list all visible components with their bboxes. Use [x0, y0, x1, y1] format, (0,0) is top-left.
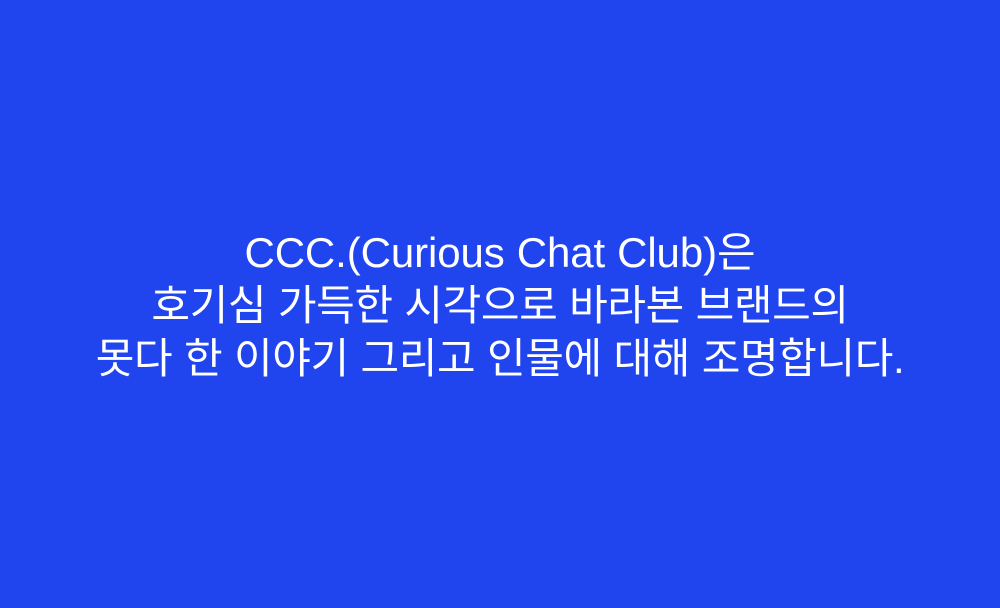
hero-description-line-1: CCC.(Curious Chat Club)은: [0, 226, 1000, 279]
hero-slide: CCC.(Curious Chat Club)은 호기심 가득한 시각으로 바라…: [0, 0, 1000, 608]
hero-description-block: CCC.(Curious Chat Club)은 호기심 가득한 시각으로 바라…: [0, 226, 1000, 385]
hero-description-line-3: 못다 한 이야기 그리고 인물에 대해 조명합니다.: [0, 332, 1000, 385]
hero-description-line-2: 호기심 가득한 시각으로 바라본 브랜드의: [0, 279, 1000, 332]
